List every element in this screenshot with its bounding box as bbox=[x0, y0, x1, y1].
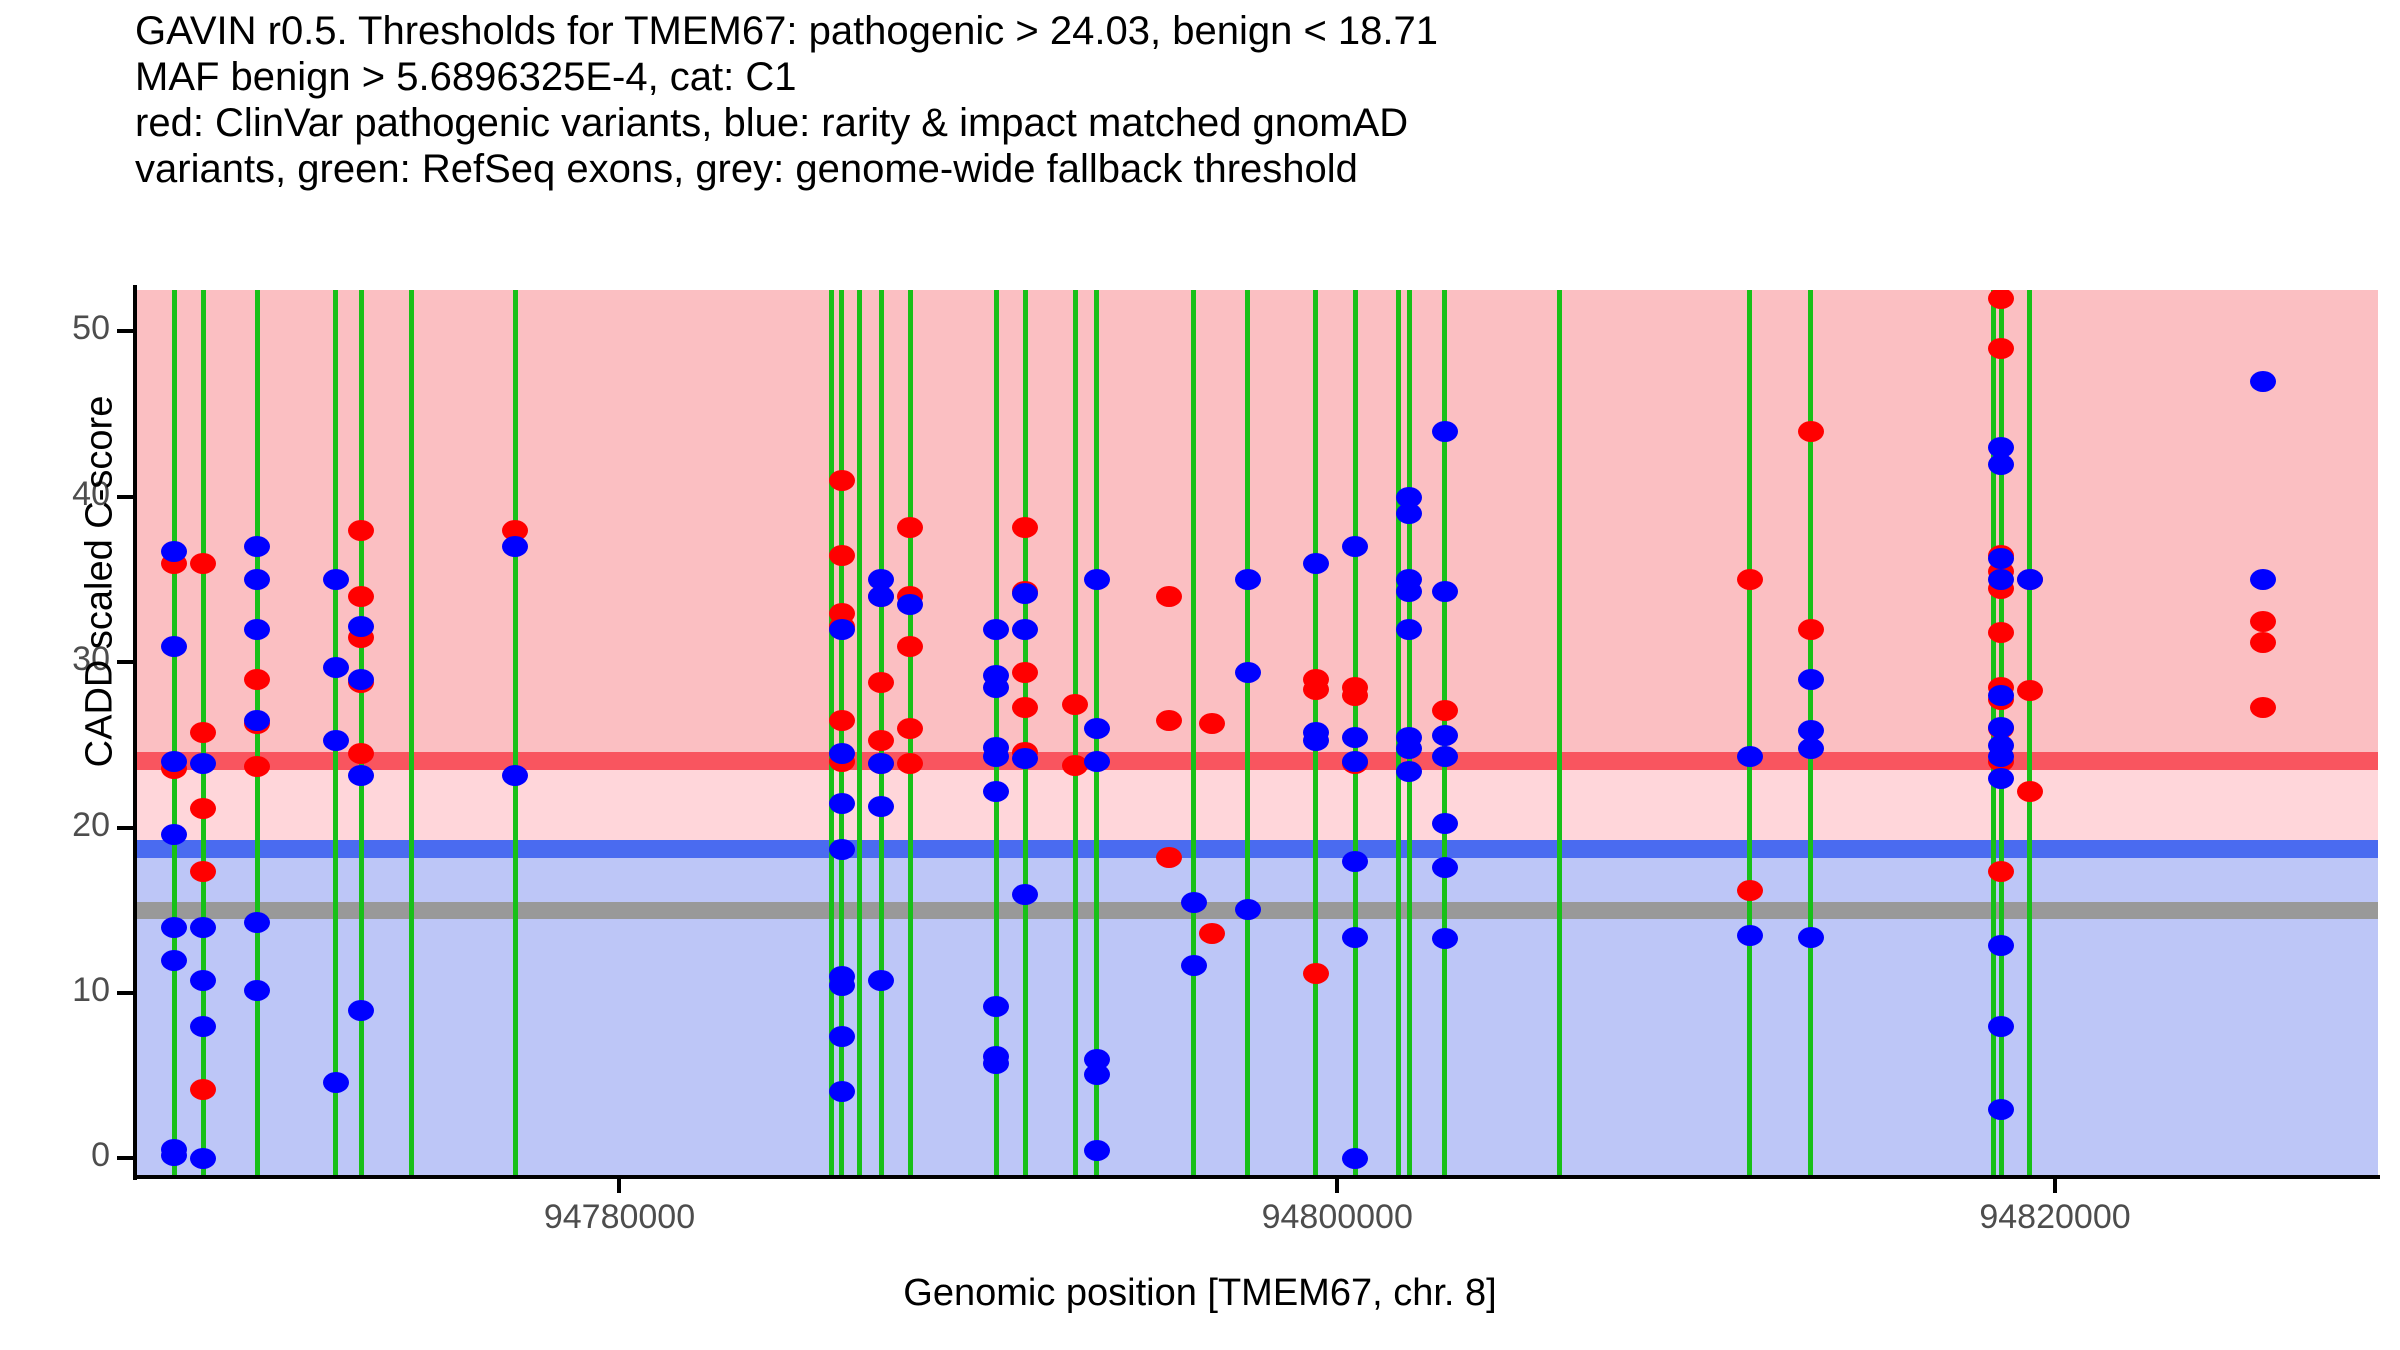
exon-marker-line bbox=[513, 290, 518, 1175]
clinvar-variant-point bbox=[1062, 694, 1088, 715]
gnomad-variant-point bbox=[1084, 1064, 1110, 1085]
gnomad-variant-point bbox=[1432, 725, 1458, 746]
gnomad-variant-point bbox=[1012, 583, 1038, 604]
x-axis-line bbox=[133, 1175, 2380, 1179]
exon-marker-line bbox=[172, 290, 177, 1175]
gnomad-variant-point bbox=[190, 970, 216, 991]
exon-marker-line bbox=[1557, 290, 1562, 1175]
gnomad-variant-point bbox=[1737, 925, 1763, 946]
x-tick bbox=[2053, 1179, 2057, 1193]
exon-marker-line bbox=[1073, 290, 1078, 1175]
clinvar-variant-point bbox=[1988, 861, 2014, 882]
gnomad-variant-point bbox=[1303, 730, 1329, 751]
y-tick bbox=[117, 1156, 133, 1160]
gnomad-variant-point bbox=[1798, 927, 1824, 948]
clinvar-variant-point bbox=[1012, 662, 1038, 683]
y-tick-label: 0 bbox=[0, 1136, 110, 1175]
y-tick bbox=[117, 991, 133, 995]
clinvar-variant-point bbox=[190, 722, 216, 743]
x-tick bbox=[617, 1179, 621, 1193]
gnomad-variant-point bbox=[1012, 884, 1038, 905]
gnomad-variant-point bbox=[829, 975, 855, 996]
exon-marker-line bbox=[2027, 290, 2032, 1175]
gnomad-variant-point bbox=[1432, 581, 1458, 602]
exon-marker-line bbox=[409, 290, 414, 1175]
gnomad-variant-point bbox=[1988, 454, 2014, 475]
gnomad-variant-point bbox=[1181, 955, 1207, 976]
clinvar-variant-point bbox=[190, 1079, 216, 1100]
gnomad-variant-point bbox=[1396, 619, 1422, 640]
gnomad-variant-point bbox=[244, 619, 270, 640]
clinvar-variant-point bbox=[897, 636, 923, 657]
gnomad-variant-point bbox=[1342, 851, 1368, 872]
gnomad-variant-point bbox=[1342, 727, 1368, 748]
exon-marker-line bbox=[1747, 290, 1752, 1175]
gnomad-variant-point bbox=[1988, 548, 2014, 569]
gnomad-variant-point bbox=[1432, 421, 1458, 442]
clinvar-variant-point bbox=[1156, 847, 1182, 868]
gnomad-variant-point bbox=[323, 657, 349, 678]
y-axis-line bbox=[133, 285, 137, 1180]
clinvar-variant-point bbox=[1012, 517, 1038, 538]
gnomad-variant-point bbox=[348, 616, 374, 637]
gnomad-variant-point bbox=[1988, 768, 2014, 789]
exon-marker-line bbox=[994, 290, 999, 1175]
title-line-3: red: ClinVar pathogenic variants, blue: … bbox=[135, 100, 2385, 146]
gnomad-variant-point bbox=[829, 839, 855, 860]
clinvar-variant-point bbox=[1432, 700, 1458, 721]
plot-root: GAVIN r0.5. Thresholds for TMEM67: patho… bbox=[0, 0, 2400, 1350]
clinvar-variant-point bbox=[1156, 710, 1182, 731]
gnomad-variant-point bbox=[1012, 748, 1038, 769]
clinvar-variant-point bbox=[1798, 619, 1824, 640]
gnomad-variant-point bbox=[244, 980, 270, 1001]
x-axis-label: Genomic position [TMEM67, chr. 8] bbox=[0, 1272, 2400, 1315]
gnomad-variant-point bbox=[1342, 927, 1368, 948]
x-tick bbox=[1335, 1179, 1339, 1193]
gnomad-variant-point bbox=[1235, 899, 1261, 920]
clinvar-variant-point bbox=[1303, 679, 1329, 700]
chart-title: GAVIN r0.5. Thresholds for TMEM67: patho… bbox=[135, 8, 2385, 192]
gnomad-variant-point bbox=[829, 793, 855, 814]
gnomad-variant-point bbox=[1988, 1099, 2014, 1120]
gnomad-variant-point bbox=[348, 765, 374, 786]
exon-marker-line bbox=[1023, 290, 1028, 1175]
gnomad-variant-point bbox=[829, 619, 855, 640]
clinvar-variant-point bbox=[2250, 697, 2276, 718]
clinvar-variant-point bbox=[1303, 963, 1329, 984]
clinvar-variant-point bbox=[2250, 611, 2276, 632]
exon-marker-line bbox=[1245, 290, 1250, 1175]
gnomad-variant-point bbox=[1798, 669, 1824, 690]
gnomad-variant-point bbox=[348, 669, 374, 690]
gnomad-variant-point bbox=[1235, 569, 1261, 590]
gnomad-variant-point bbox=[829, 1081, 855, 1102]
clinvar-variant-point bbox=[1798, 421, 1824, 442]
gnomad-variant-point bbox=[244, 912, 270, 933]
pathogenic-band bbox=[135, 290, 2378, 752]
gnomad-variant-point bbox=[244, 710, 270, 731]
gnomad-variant-point bbox=[1798, 720, 1824, 741]
clinvar-variant-point bbox=[2017, 781, 2043, 802]
clinvar-variant-point bbox=[348, 520, 374, 541]
gnomad-variant-point bbox=[1012, 619, 1038, 640]
plot-panel bbox=[135, 290, 2378, 1175]
clinvar-variant-point bbox=[244, 669, 270, 690]
gnomad-variant-point bbox=[161, 636, 187, 657]
gnomad-variant-point bbox=[1084, 1140, 1110, 1161]
gnomad-variant-point bbox=[1396, 581, 1422, 602]
clinvar-variant-point bbox=[1156, 586, 1182, 607]
title-line-2: MAF benign > 5.6896325E-4, cat: C1 bbox=[135, 54, 2385, 100]
exon-marker-line bbox=[1191, 290, 1196, 1175]
gnomad-variant-point bbox=[829, 1026, 855, 1047]
clinvar-variant-point bbox=[829, 545, 855, 566]
pathogenic-threshold-line bbox=[135, 752, 2378, 769]
x-tick-label: 94780000 bbox=[469, 1198, 769, 1237]
gnomad-variant-point bbox=[348, 1000, 374, 1021]
gnomad-variant-point bbox=[1181, 892, 1207, 913]
clinvar-variant-point bbox=[190, 861, 216, 882]
gnomad-variant-point bbox=[1235, 662, 1261, 683]
gnomad-variant-point bbox=[190, 917, 216, 938]
clinvar-variant-point bbox=[1012, 697, 1038, 718]
benign-threshold-line bbox=[135, 840, 2378, 857]
exon-marker-line bbox=[359, 290, 364, 1175]
clinvar-variant-point bbox=[190, 798, 216, 819]
clinvar-variant-point bbox=[190, 553, 216, 574]
gnomad-variant-point bbox=[983, 1053, 1009, 1074]
clinvar-variant-point bbox=[1199, 713, 1225, 734]
exon-marker-line bbox=[857, 290, 862, 1175]
gnomad-variant-point bbox=[1303, 553, 1329, 574]
gnomad-variant-point bbox=[323, 730, 349, 751]
title-line-1: GAVIN r0.5. Thresholds for TMEM67: patho… bbox=[135, 8, 2385, 54]
intermediate-band bbox=[135, 770, 2378, 841]
clinvar-variant-point bbox=[348, 586, 374, 607]
x-tick-label: 94800000 bbox=[1187, 1198, 1487, 1237]
gnomad-variant-point bbox=[829, 743, 855, 764]
gnomad-variant-point bbox=[2250, 371, 2276, 392]
gnomad-variant-point bbox=[1432, 813, 1458, 834]
clinvar-variant-point bbox=[897, 517, 923, 538]
x-tick-label: 94820000 bbox=[1905, 1198, 2205, 1237]
clinvar-variant-point bbox=[1988, 338, 2014, 359]
title-line-4: variants, green: RefSeq exons, grey: gen… bbox=[135, 146, 2385, 192]
y-axis-label: CADD scaled C-score bbox=[79, 182, 122, 982]
gnomad-variant-point bbox=[502, 765, 528, 786]
clinvar-variant-point bbox=[829, 710, 855, 731]
